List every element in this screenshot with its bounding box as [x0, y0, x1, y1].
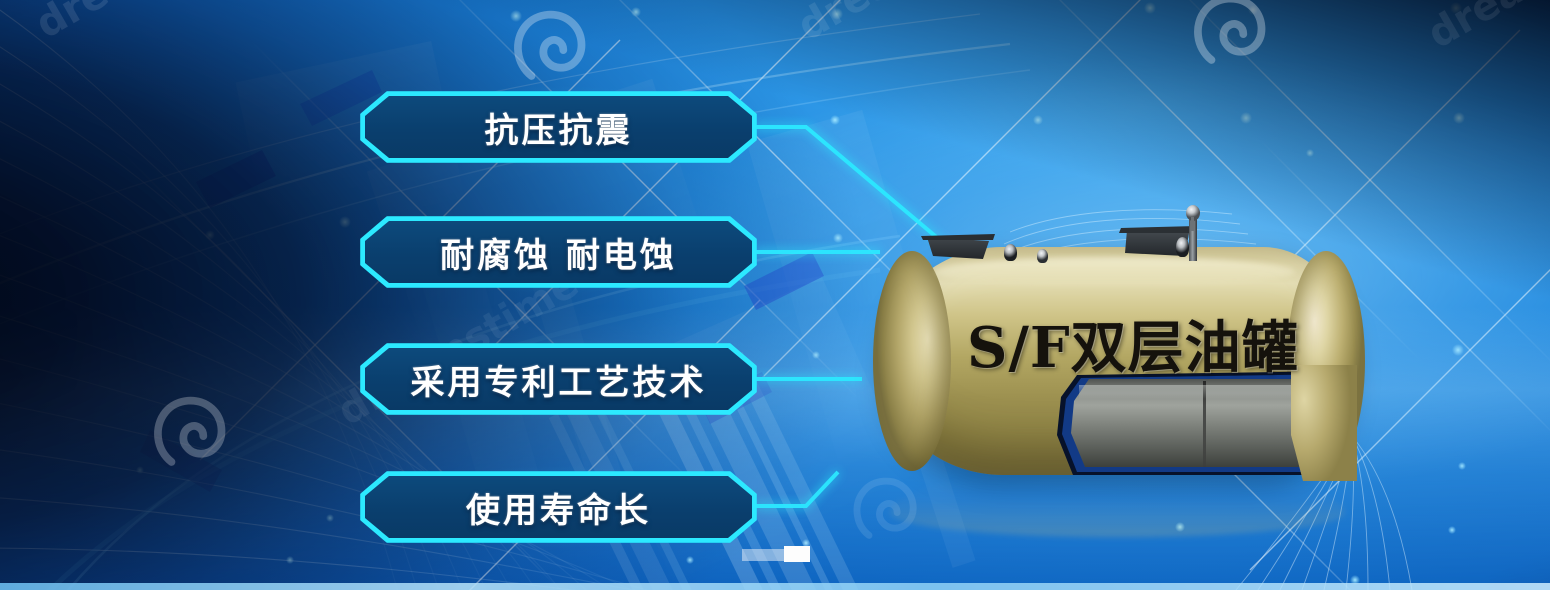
tank-nozzle-2 — [1037, 249, 1048, 263]
tank-reflection — [890, 467, 1345, 537]
feature-box-label: 耐腐蚀 耐电蚀 — [440, 228, 677, 277]
tank-manhole-cover-left — [927, 237, 989, 259]
tank-product-label: S/F双层油罐 — [967, 303, 1299, 384]
feature-box-3[interactable]: 采用专利工艺技术 — [362, 345, 755, 413]
tank-right-bevel — [1291, 365, 1357, 481]
feature-box-4[interactable]: 使用寿命长 — [362, 473, 755, 541]
oil-tank-illustration: S/F双层油罐 — [855, 225, 1375, 525]
feature-box-label: 使用寿命长 — [466, 483, 651, 532]
feature-box-1[interactable]: 抗压抗震 — [362, 93, 755, 161]
decor-gray-tag — [742, 549, 784, 561]
decor-white-tag — [784, 546, 810, 562]
feature-box-2[interactable]: 耐腐蚀 耐电蚀 — [362, 218, 755, 286]
tank-nozzle-3 — [1176, 237, 1189, 257]
tank-left-endcap — [873, 251, 951, 471]
background-bottom-edge — [0, 583, 1550, 590]
banner-canvas: dreamstimedreamstimedreamstimedreamstime… — [0, 0, 1550, 590]
tank-manhole-flange-right — [1119, 226, 1197, 233]
tank-manhole-flange-left — [921, 234, 995, 240]
tank-nozzle-1 — [1004, 244, 1017, 261]
feature-box-label: 采用专利工艺技术 — [411, 355, 707, 404]
feature-box-label: 抗压抗震 — [485, 103, 633, 152]
tank-vent-stem — [1191, 217, 1194, 231]
tank-top-highlight — [935, 257, 1295, 287]
